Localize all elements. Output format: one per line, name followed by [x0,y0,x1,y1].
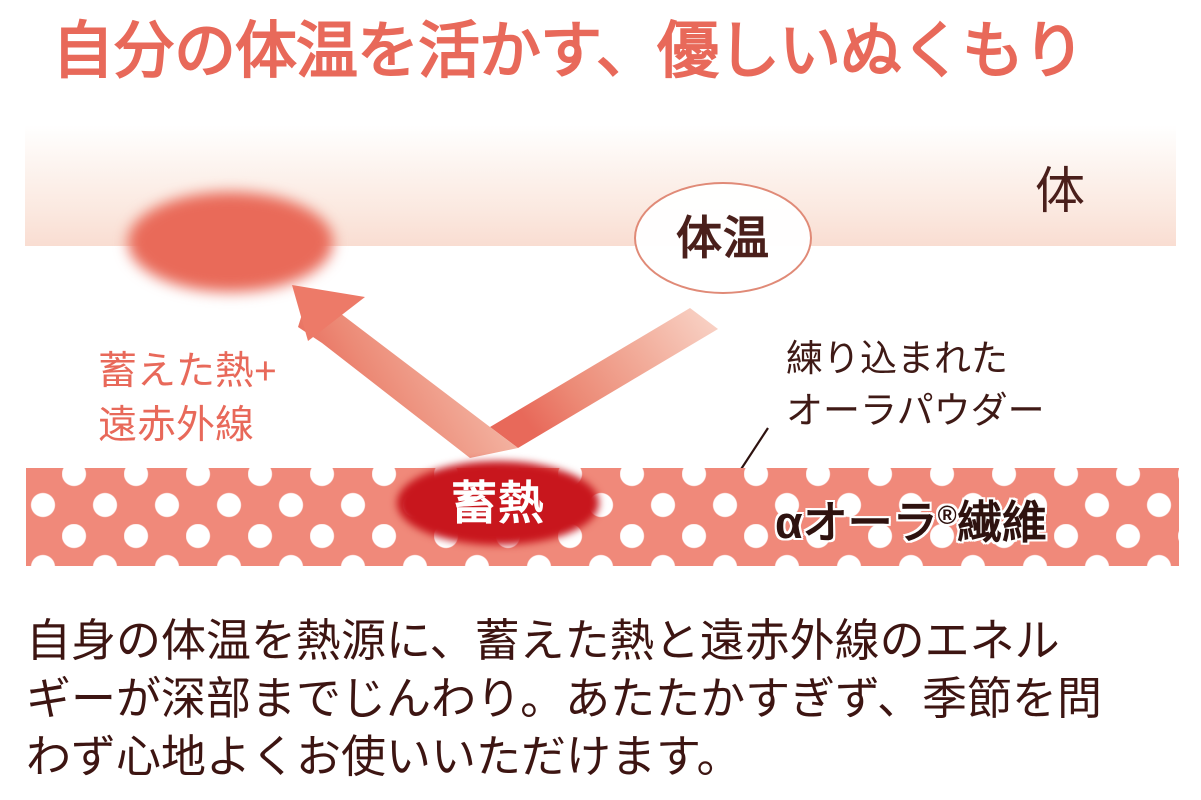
aura-powder-caption-line2: オーラパウダー [786,385,1045,437]
page-title: 自分の体温を活かす、優しいぬくもり [52,10,1172,94]
infographic-canvas: 自分の体温を活かす、優しいぬくもり 体 体温 蓄えた熱+ 遠赤外線 練り込まれた [0,0,1201,800]
body-temperature-callout-label: 体温 [676,215,770,261]
description-line-1: 自身の体温を熱源に、蓄えた熱と遠赤外線のエネル [26,612,1186,670]
registered-trademark-icon: ® [938,500,957,530]
stored-heat-caption: 蓄えた熱+ 遠赤外線 [98,345,277,453]
stored-heat-caption-line1: 蓄えた熱+ [98,345,277,399]
body-layer-label: 体 [1035,164,1085,218]
aura-powder-caption: 練り込まれた オーラパウダー [786,333,1045,437]
heat-storage-label: 蓄熱 [397,461,599,545]
description-line-3: わず心地よくお使いいただけます。 [26,728,1186,786]
aura-powder-caption-line1: 練り込まれた [786,333,1045,385]
stored-heat-caption-line2: 遠赤外線 [98,399,277,453]
fiber-name-label: αオーラ®繊維 [775,487,1047,551]
fiber-name-suffix: 繊維 [957,497,1047,548]
fiber-name-main: αオーラ [775,497,938,548]
description-paragraph: 自身の体温を熱源に、蓄えた熱と遠赤外線のエネル ギーが深部までじんわり。あたたか… [26,612,1186,786]
heat-return-arrow-icon [270,275,730,460]
description-line-2: ギーが深部までじんわり。あたたかすぎず、季節を問 [26,670,1186,728]
